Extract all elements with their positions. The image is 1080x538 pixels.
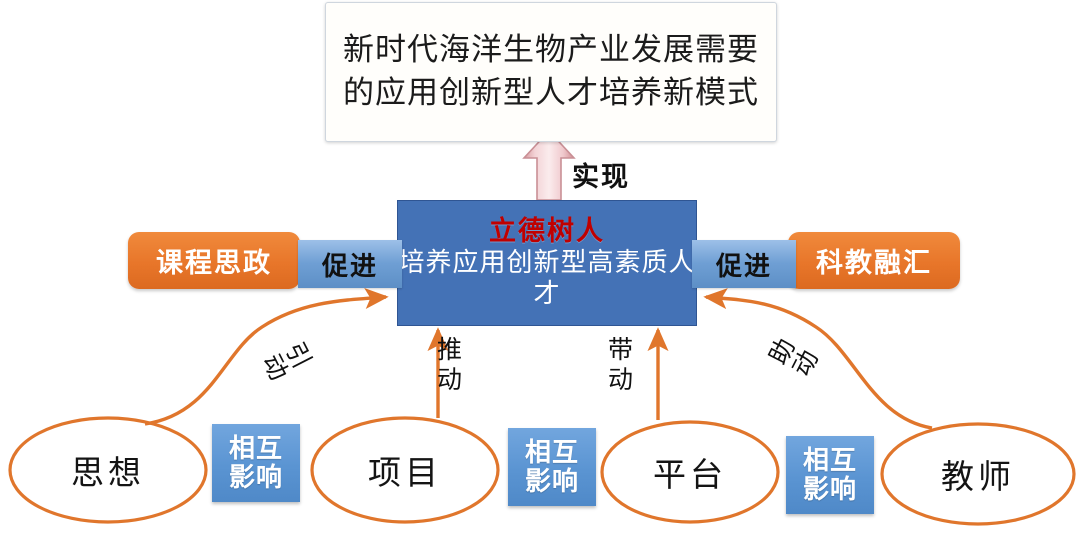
core-box: 立德树人 培养应用创新型高素质人才 <box>397 200 697 326</box>
diagram-canvas: 新时代海洋生物产业发展需要的应用创新型人才培养新模式 实现 立德树人 培养应用创… <box>0 0 1080 538</box>
pill-kejiao-ronghui: 科教融汇 <box>788 232 960 289</box>
pill-right-label: 科教融汇 <box>816 241 932 280</box>
core-subtitle: 培养应用创新型高素质人才 <box>398 247 696 308</box>
mutual-box-3: 相互 影响 <box>786 436 874 514</box>
goal-text: 新时代海洋生物产业发展需要的应用创新型人才培养新模式 <box>326 29 776 115</box>
core-title: 立德树人 <box>489 217 605 246</box>
band-left-label: 促进 <box>322 246 378 283</box>
ellipse-pingtai <box>602 422 778 522</box>
mutual-box-3-line2: 影响 <box>803 475 857 504</box>
mutual-box-1-line2: 影响 <box>229 463 283 492</box>
band-cujin-right: 促进 <box>692 240 796 288</box>
mutual-box-2-line1: 相互 <box>525 438 579 467</box>
arrow-label-tuidong: 推 动 <box>437 336 463 395</box>
realize-label: 实现 <box>572 155 630 194</box>
band-cujin-left: 促进 <box>298 240 402 288</box>
arrow-label-daidong-line1: 带 <box>608 336 634 366</box>
mutual-box-3-line1: 相互 <box>803 446 857 475</box>
mutual-box-2: 相互 影响 <box>508 428 596 506</box>
ellipse-xiangmu <box>312 418 498 522</box>
ellipse-jiaoshi <box>882 424 1074 524</box>
mutual-box-2-line2: 影响 <box>525 467 579 496</box>
ellipse-sixiang <box>10 418 206 522</box>
pill-left-label: 课程思政 <box>156 241 272 280</box>
arrow-label-daidong: 带 动 <box>608 336 634 395</box>
pill-kecheng-sizheng: 课程思政 <box>128 232 300 289</box>
arrow-label-tuidong-line1: 推 <box>437 336 463 366</box>
arrow-label-tuidong-line2: 动 <box>437 366 463 396</box>
arrow-label-daidong-line2: 动 <box>608 366 634 396</box>
goal-box: 新时代海洋生物产业发展需要的应用创新型人才培养新模式 <box>325 2 777 142</box>
mutual-box-1: 相互 影响 <box>212 424 300 502</box>
mutual-box-1-line1: 相互 <box>229 434 283 463</box>
band-right-label: 促进 <box>716 246 772 283</box>
